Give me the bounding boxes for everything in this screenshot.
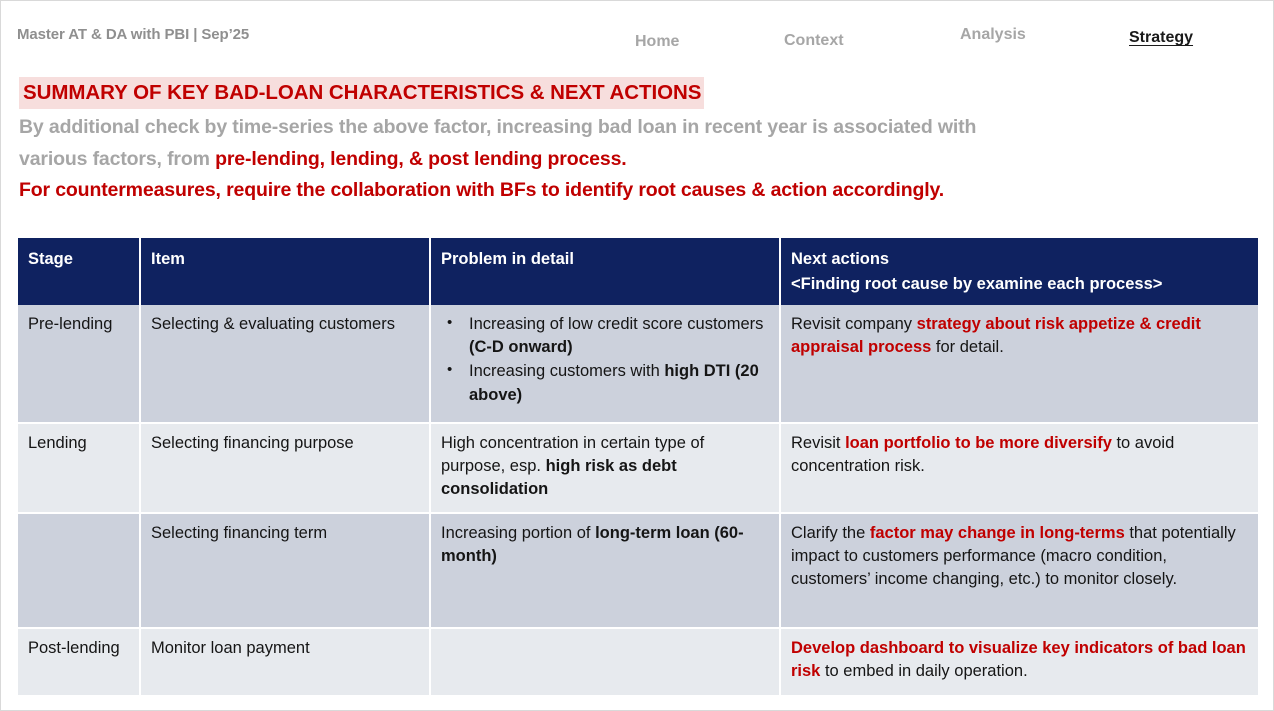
subtitle-paragraph: By additional check by time-series the a… [19, 112, 1229, 175]
nav-item-context[interactable]: Context [784, 32, 844, 50]
cell-item: Selecting financing term [140, 513, 430, 628]
nav-bar: Home Context Analysis Strategy [611, 1, 1271, 65]
nav-item-analysis[interactable]: Analysis [960, 26, 1026, 44]
problem-text-plain: Increasing portion of [441, 524, 595, 542]
cell-stage: Lending [18, 423, 140, 513]
page-title: SUMMARY OF KEY BAD-LOAN CHARACTERISTICS … [19, 77, 704, 109]
cell-next-action: Develop dashboard to visualize key indic… [780, 628, 1258, 696]
list-item: Increasing of low credit score customers… [441, 313, 769, 360]
title-block: SUMMARY OF KEY BAD-LOAN CHARACTERISTICS … [19, 77, 1229, 207]
column-header-problem[interactable]: Problem in detail [430, 238, 780, 305]
table-row[interactable]: Selecting financing term Increasing port… [18, 513, 1258, 628]
slide: Master AT & DA with PBI | Sep’25 Home Co… [0, 0, 1274, 711]
column-header-next-actions[interactable]: Next actions <Finding root cause by exam… [780, 238, 1258, 305]
table-header: Stage Item Problem in detail Next action… [18, 238, 1258, 305]
deck-title: Master AT & DA with PBI | Sep’25 [17, 26, 249, 43]
subtitle-line-1: By additional check by time-series the a… [19, 116, 976, 138]
cell-item: Monitor loan payment [140, 628, 430, 696]
table-header-row: Stage Item Problem in detail Next action… [18, 238, 1258, 305]
column-header-next-actions-title: Next actions [791, 250, 889, 268]
action-text-highlight: loan portfolio to be more diversify [845, 434, 1112, 452]
cell-item: Selecting & evaluating customers [140, 305, 430, 423]
action-text-tail: for detail. [931, 338, 1003, 356]
cell-next-action: Revisit loan portfolio to be more divers… [780, 423, 1258, 513]
problem-bullet-list: Increasing of low credit score customers… [441, 313, 769, 408]
cell-problem [430, 628, 780, 696]
cell-next-action: Revisit company strategy about risk appe… [780, 305, 1258, 423]
cell-stage: Pre-lending [18, 305, 140, 423]
table-row[interactable]: Post-lending Monitor loan payment Develo… [18, 628, 1258, 696]
action-text-plain: Revisit [791, 434, 845, 452]
action-text-highlight: factor may change in long-terms [870, 524, 1125, 542]
list-item: Increasing customers with high DTI (20 a… [441, 360, 769, 407]
table-row[interactable]: Pre-lending Selecting & evaluating custo… [18, 305, 1258, 423]
cell-problem: Increasing portion of long-term loan (60… [430, 513, 780, 628]
table-body: Pre-lending Selecting & evaluating custo… [18, 305, 1258, 696]
table-row[interactable]: Lending Selecting financing purpose High… [18, 423, 1258, 513]
page-title-wrap: SUMMARY OF KEY BAD-LOAN CHARACTERISTICS … [19, 77, 1229, 109]
nav-item-home[interactable]: Home [635, 33, 679, 51]
bullet-text-plain: Increasing of low credit score customers [469, 315, 763, 333]
action-text-plain: Revisit company [791, 315, 917, 333]
nav-item-strategy[interactable]: Strategy [1129, 29, 1193, 47]
cell-stage [18, 513, 140, 628]
subtitle-line-3: For countermeasures, require the collabo… [19, 175, 1229, 207]
cell-next-action: Clarify the factor may change in long-te… [780, 513, 1258, 628]
column-header-item[interactable]: Item [140, 238, 430, 305]
cell-stage: Post-lending [18, 628, 140, 696]
cell-item: Selecting financing purpose [140, 423, 430, 513]
subtitle-line-2-grey: various factors, from [19, 148, 215, 170]
cell-problem: High concentration in certain type of pu… [430, 423, 780, 513]
subtitle-line-2-red: pre-lending, lending, & post lending pro… [215, 148, 626, 170]
action-text-tail: to embed in daily operation. [820, 662, 1027, 680]
action-text-plain: Clarify the [791, 524, 870, 542]
cell-problem: Increasing of low credit score customers… [430, 305, 780, 423]
column-header-stage[interactable]: Stage [18, 238, 140, 305]
bullet-text-bold: (C-D onward) [469, 338, 573, 356]
column-header-next-actions-subtitle: <Finding root cause by examine each proc… [791, 275, 1162, 293]
bullet-text-plain: Increasing customers with [469, 362, 664, 380]
summary-table: Stage Item Problem in detail Next action… [18, 238, 1258, 697]
top-bar: Master AT & DA with PBI | Sep’25 Home Co… [1, 1, 1274, 65]
